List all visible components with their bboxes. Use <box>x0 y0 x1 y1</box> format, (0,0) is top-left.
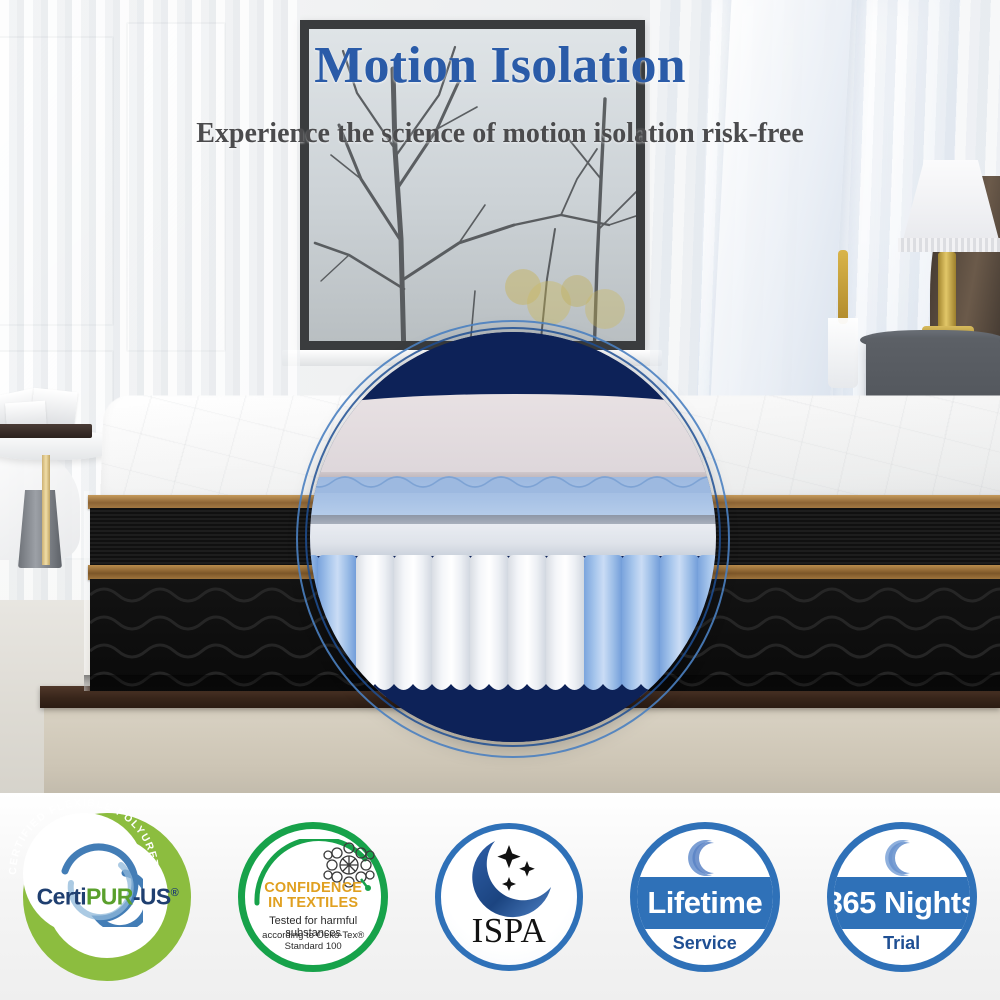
moon-icon <box>682 837 728 879</box>
oeko-tex-badge: CONFIDENCE IN TEXTILES Tested for harmfu… <box>238 822 388 972</box>
page-title: Motion Isolation <box>0 36 1000 95</box>
lifetime-service-band: Lifetime <box>630 877 780 929</box>
lamp-base <box>938 252 956 334</box>
certipur-registered-mark: ® <box>171 886 179 898</box>
lifetime-service-sub-label: Service <box>637 933 773 954</box>
oeko-tex-heading-line2: IN TEXTILES <box>245 896 381 911</box>
sleeping-moon-icon <box>879 837 925 879</box>
certipur-word-part1: Certi <box>37 883 86 909</box>
oeko-tex-ring: CONFIDENCE IN TEXTILES Tested for harmfu… <box>238 822 388 972</box>
promo-image: Motion Isolation Experience the science … <box>0 0 1000 1000</box>
ispa-label: ISPA <box>441 911 577 951</box>
lifetime-service-main-label: Lifetime <box>647 885 762 921</box>
ispa-badge: ISPA <box>435 823 583 971</box>
ispa-ring: ISPA <box>435 823 583 971</box>
curtain-tieback <box>838 250 848 324</box>
oeko-tex-heading-line1: CONFIDENCE <box>245 881 381 896</box>
oeko-tex-subtext-2: according to Oeko-Tex® Standard 100 <box>245 930 381 952</box>
365-nights-trial-band: 365 Nights <box>827 877 977 929</box>
certipur-word-part2: PUR <box>86 883 133 909</box>
page-subtitle: Experience the science of motion isolati… <box>0 118 1000 150</box>
oeko-tex-heading: CONFIDENCE IN TEXTILES <box>245 881 381 911</box>
mattress-cross-section-magnifier <box>296 320 730 758</box>
lifetime-service-badge: Lifetime Service <box>630 822 780 972</box>
curtain-tassel <box>828 318 858 388</box>
lifetime-service-ring: Lifetime Service <box>630 822 780 972</box>
365-nights-trial-badge: 365 Nights Trial <box>827 822 977 972</box>
certification-badge-bar: CertiPUR-US® CONTAINS CERTIFIED FLEXIBLE… <box>0 793 1000 1000</box>
certipur-word-part3: -US <box>133 883 171 909</box>
365-nights-trial-ring: 365 Nights Trial <box>827 822 977 972</box>
certipur-ring: CertiPUR-US® CONTAINS CERTIFIED FLEXIBLE… <box>23 813 191 981</box>
crescent-moon-stars-icon <box>459 839 559 921</box>
certipur-wordmark: CertiPUR-US® <box>37 883 179 910</box>
lamp-shade-fringe <box>898 238 1000 252</box>
magnifier-outer-ring <box>296 320 730 758</box>
365-nights-trial-sub-label: Trial <box>834 933 970 954</box>
365-nights-trial-main-label: 365 Nights <box>827 885 977 921</box>
certipur-us-badge: CertiPUR-US® CONTAINS CERTIFIED FLEXIBLE… <box>23 813 191 981</box>
